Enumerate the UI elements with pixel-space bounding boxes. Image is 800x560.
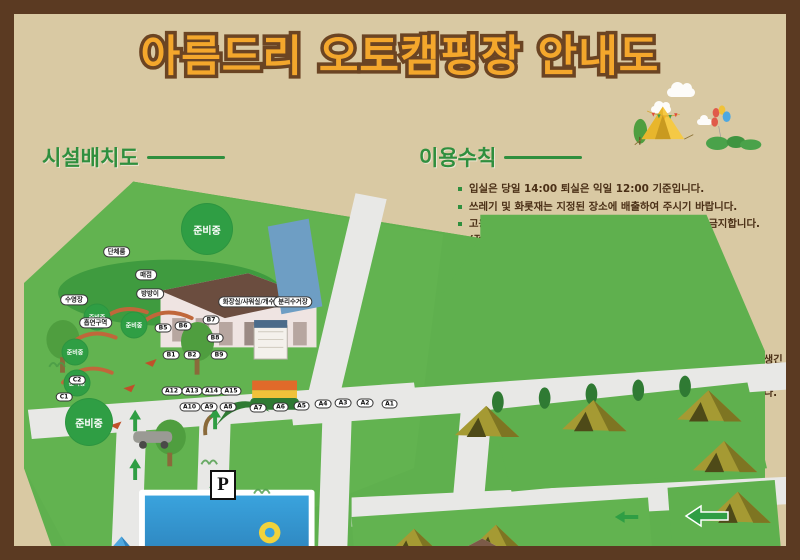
prep-area-prep-small-3: 준비중 bbox=[62, 339, 89, 366]
page-title: 아름드리 오토캠핑장 안내도 bbox=[141, 22, 660, 84]
site-label-A6[interactable]: A6 bbox=[272, 403, 289, 412]
site-label-A3[interactable]: A3 bbox=[335, 398, 352, 407]
title-bar: 아름드리 오토캠핑장 안내도 bbox=[14, 22, 786, 84]
entrance-arrow-icon bbox=[684, 502, 730, 530]
site-label-A10[interactable]: A10 bbox=[179, 403, 200, 412]
site-label-B9[interactable]: B9 bbox=[211, 351, 228, 360]
layout-heading-text: 시설배치도 bbox=[42, 142, 139, 172]
parking-sign: P bbox=[210, 470, 236, 500]
site-label-A2[interactable]: A2 bbox=[357, 399, 374, 408]
site-label-A7[interactable]: A7 bbox=[250, 403, 267, 412]
site-label-B8[interactable]: B8 bbox=[207, 333, 224, 342]
site-label-B7[interactable]: B7 bbox=[203, 315, 220, 324]
prep-area-prep-large-bottom: 준비중 bbox=[65, 398, 113, 446]
balloons-and-bushes-icon bbox=[704, 102, 764, 150]
site-label-C1[interactable]: C1 bbox=[56, 393, 73, 402]
cloud-icon bbox=[667, 88, 695, 97]
facility-label-recycling-area[interactable]: 분리수거장 bbox=[273, 296, 312, 307]
site-label-A12[interactable]: A12 bbox=[161, 386, 182, 395]
prep-area-prep-small-2: 준비중 bbox=[121, 312, 148, 339]
site-label-A5[interactable]: A5 bbox=[293, 402, 310, 411]
site-label-A1[interactable]: A1 bbox=[381, 399, 398, 408]
rules-heading-text: 이용수칙 bbox=[419, 142, 496, 172]
site-label-A13[interactable]: A13 bbox=[182, 386, 203, 395]
poster-root: 아름드리 오토캠핑장 안내도 시설배치도 이용수칙 bbox=[0, 0, 800, 560]
site-label-A15[interactable]: A15 bbox=[221, 386, 242, 395]
facility-label-store[interactable]: 매점 bbox=[135, 269, 157, 280]
facility-layout-map: 준비중준비중준비중준비중준비중준비중 A1A2A3A4A5A6A7A8A9A10… bbox=[24, 172, 414, 517]
site-label-A4[interactable]: A4 bbox=[315, 399, 332, 408]
poster-inner: 아름드리 오토캠핑장 안내도 시설배치도 이용수칙 bbox=[14, 14, 786, 546]
facility-label-group-room[interactable]: 단체룸 bbox=[103, 246, 131, 257]
facility-label-smoking-area[interactable]: 흡연구역 bbox=[79, 317, 113, 328]
site-label-C2[interactable]: C2 bbox=[69, 375, 86, 384]
site-label-A14[interactable]: A14 bbox=[201, 386, 222, 395]
prep-area-prep-large-top: 준비중 bbox=[181, 203, 233, 255]
site-label-A9[interactable]: A9 bbox=[201, 403, 218, 412]
site-label-B5[interactable]: B5 bbox=[155, 324, 172, 333]
map-artwork bbox=[24, 172, 786, 546]
rules-section-heading: 이용수칙 bbox=[419, 142, 582, 172]
site-label-A8[interactable]: A8 bbox=[220, 403, 237, 412]
site-label-B6[interactable]: B6 bbox=[175, 322, 192, 331]
heading-rule bbox=[147, 156, 225, 159]
facility-label-bouncy-castle[interactable]: 방방이 bbox=[136, 288, 164, 299]
site-label-B2[interactable]: B2 bbox=[184, 350, 201, 359]
facility-label-swimming-pool[interactable]: 수영장 bbox=[60, 294, 88, 305]
layout-section-heading: 시설배치도 bbox=[42, 142, 225, 172]
decorative-tent-icon bbox=[629, 102, 699, 147]
site-label-B1[interactable]: B1 bbox=[163, 350, 180, 359]
heading-rule bbox=[504, 156, 582, 159]
